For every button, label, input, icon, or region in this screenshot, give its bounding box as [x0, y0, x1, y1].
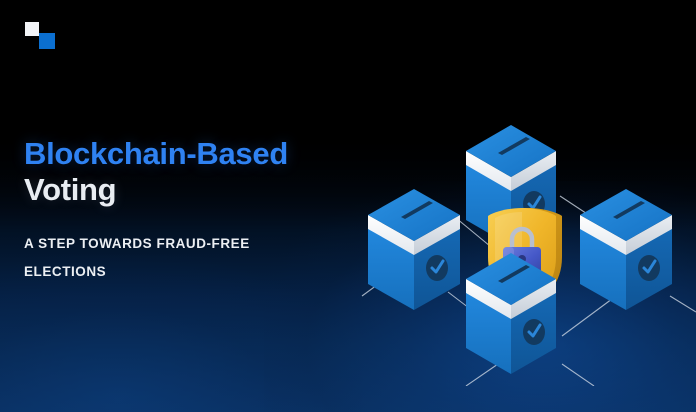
- illustration-blockchain-voting-network: [348, 96, 696, 386]
- ballot-box-left: [368, 189, 460, 310]
- copy-block: Blockchain-Based Voting A STEP TOWARDS F…: [24, 136, 354, 285]
- link-bottom-outer-right: [562, 364, 594, 386]
- link-bottom-outer-left: [466, 364, 498, 386]
- headline-line-1: Blockchain-Based: [24, 136, 354, 172]
- link-bottom-right: [562, 296, 616, 336]
- headline-line-2: Voting: [24, 172, 354, 208]
- page-subtitle: A STEP TOWARDS FRAUD-FREE ELECTIONS: [24, 230, 274, 285]
- logo-white-square-icon: [25, 22, 39, 36]
- link-right-outer: [670, 296, 696, 312]
- ballot-box-right: [580, 189, 672, 310]
- poster-canvas: Blockchain-Based Voting A STEP TOWARDS F…: [0, 0, 696, 412]
- logo-blue-square-icon: [39, 33, 55, 49]
- brand-logo: [25, 22, 57, 50]
- page-title: Blockchain-Based Voting: [24, 136, 354, 208]
